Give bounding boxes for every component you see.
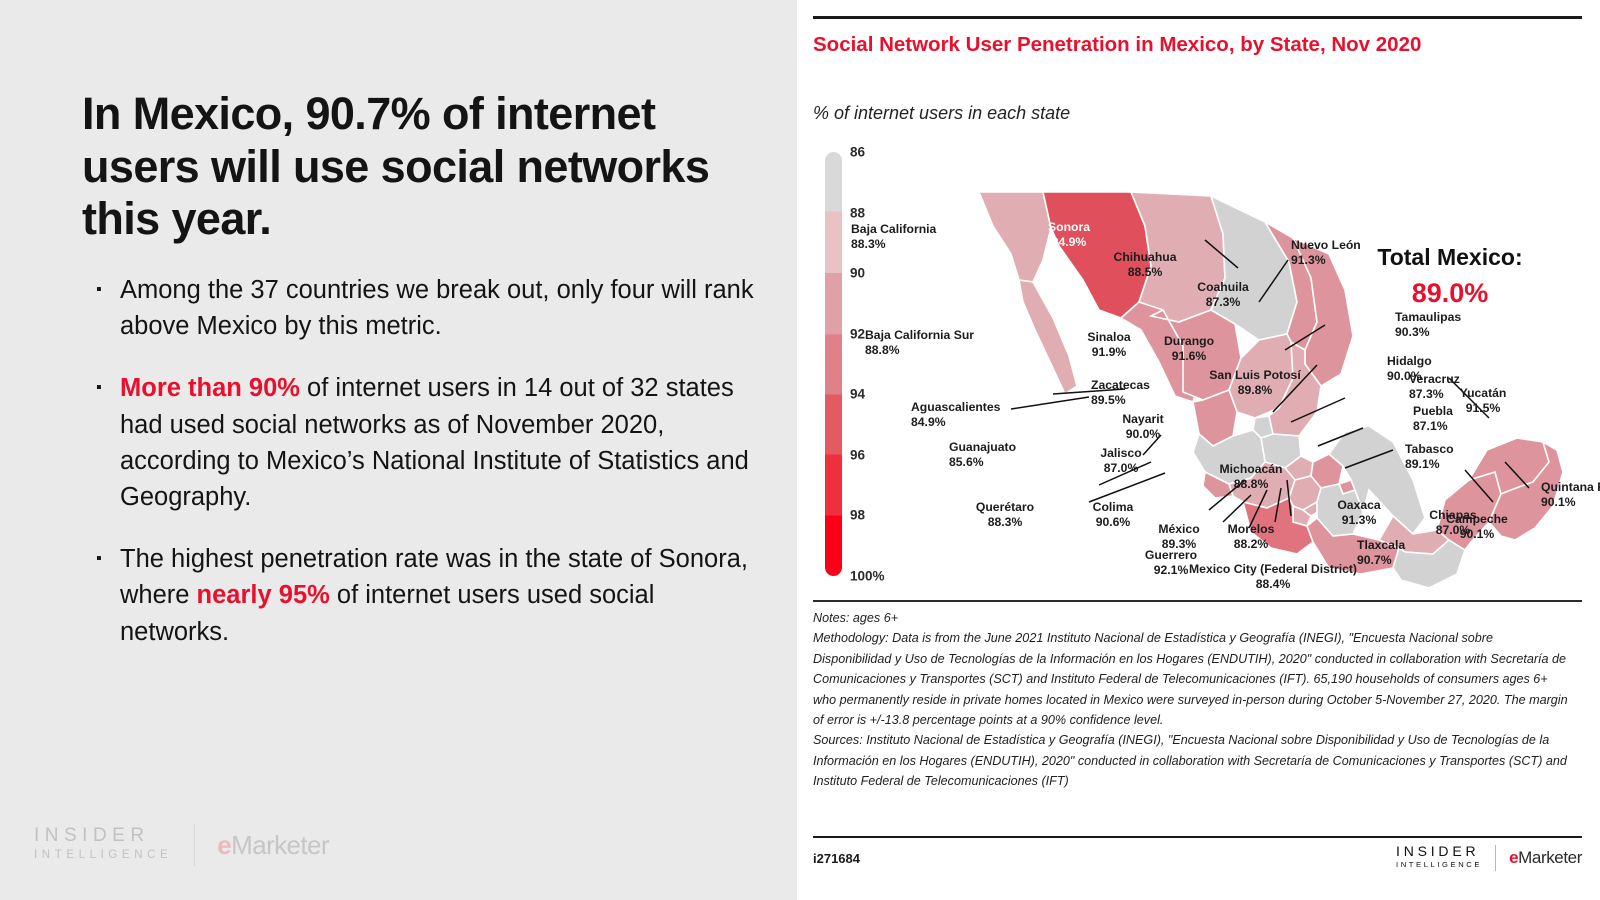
map-label-chihuahua: Chihuahua88.5% [1114, 250, 1177, 280]
legend-tick-90: 90 [850, 266, 865, 281]
map-label-name: Veracruz [1409, 372, 1460, 386]
map-label-value: 87.3% [1409, 387, 1460, 402]
map-label-tlaxcala: Tlaxcala90.7% [1357, 538, 1405, 568]
map-label-tamaulipas: Tamaulipas90.3% [1395, 310, 1461, 340]
map-label-jalisco: Jalisco87.0% [1100, 446, 1141, 476]
map-label-value: 90.1% [1541, 495, 1600, 510]
map-label-coahuila: Coahuila87.3% [1197, 280, 1248, 310]
map-label-name: Durango [1164, 334, 1214, 348]
map-label-colima: Colima90.6% [1093, 500, 1134, 530]
map-label-value: 90.1% [1446, 527, 1508, 542]
chart-title: Social Network User Penetration in Mexic… [813, 32, 1513, 58]
map-label-value: 91.5% [1460, 401, 1507, 416]
map-label-value: 88.5% [1114, 265, 1177, 280]
map-label-nuevo-leon: Nuevo León91.3% [1291, 238, 1361, 268]
chart-id: i271684 [813, 851, 860, 866]
legend-tick-88: 88 [850, 205, 865, 220]
map-label-morelos: Morelos88.2% [1228, 522, 1275, 552]
bottom-rule [813, 836, 1582, 839]
map-region-baja-california-sur[interactable] [1019, 280, 1077, 394]
map-label-sonora: Sonora94.9% [1048, 220, 1090, 250]
chart-panel: Social Network User Penetration in Mexic… [797, 0, 1600, 900]
bullet-text: More than 90% of internet users in 14 ou… [120, 370, 756, 515]
logo-divider-right [1495, 845, 1496, 871]
map-label-name: Sonora [1048, 220, 1090, 234]
emarketer-text-right: Marketer [1518, 848, 1582, 867]
map-label-name: Guerrero [1145, 548, 1197, 562]
map-label-value: 91.3% [1337, 513, 1380, 528]
map-label-name: Coahuila [1197, 280, 1248, 294]
map-label-guanajuato: Guanajuato85.6% [949, 440, 1016, 470]
map-label-value: 90.0% [1122, 427, 1163, 442]
map-label-name: Campeche [1446, 512, 1508, 526]
map-label-value: 91.6% [1164, 349, 1214, 364]
map-label-name: Zacatecas [1091, 378, 1150, 392]
map-label-michoacan: Michoacán88.8% [1220, 462, 1283, 492]
map-label-value: 94.9% [1048, 235, 1090, 250]
map-label-name: Querétaro [976, 500, 1034, 514]
notes-paragraph: Methodology: Data is from the June 2021 … [813, 628, 1573, 730]
map-label-value: 85.6% [949, 455, 1016, 470]
map-label-name: Sinaloa [1087, 330, 1130, 344]
page-headline: In Mexico, 90.7% of internet users will … [82, 88, 732, 246]
map-label-name: Tlaxcala [1357, 538, 1405, 552]
map-label-value: 87.0% [1100, 461, 1141, 476]
map-label-name: México [1158, 522, 1199, 536]
map-label-name: Puebla [1413, 404, 1453, 418]
legend-tick-98: 98 [850, 508, 865, 523]
map-label-value: 88.8% [865, 343, 974, 358]
left-brand-logo: INSIDER INTELLIGENCE eMarketer [34, 824, 329, 866]
map-label-value: 92.1% [1145, 563, 1197, 578]
bullet-item: ▪More than 90% of internet users in 14 o… [96, 370, 756, 515]
map-label-name: Baja California Sur [865, 328, 974, 342]
map-label-name: Guanajuato [949, 440, 1016, 454]
map-label-yucatan: Yucatán91.5% [1460, 386, 1507, 416]
map-label-name: Morelos [1228, 522, 1275, 536]
map-label-value: 89.5% [1091, 393, 1150, 408]
top-rule [813, 16, 1582, 19]
map-label-value: 89.8% [1209, 383, 1300, 398]
map-label-name: San Luis Potosí [1209, 368, 1300, 382]
map-label-durango: Durango91.6% [1164, 334, 1214, 364]
bullet-text: Among the 37 countries we break out, onl… [120, 272, 756, 344]
bullet-item: ▪The highest penetration rate was in the… [96, 541, 756, 650]
map-label-value: 89.1% [1405, 457, 1454, 472]
map-label-tabasco: Tabasco89.1% [1405, 442, 1454, 472]
insider-wordmark-right: INSIDER [1396, 844, 1482, 859]
map-label-value: 88.8% [1220, 477, 1283, 492]
left-summary-panel: In Mexico, 90.7% of internet users will … [0, 0, 797, 900]
legend-tick-86: 86 [850, 145, 865, 160]
map-label-san-luis-potosi: San Luis Potosí89.8% [1209, 368, 1300, 398]
insider-wordmark: INSIDER [34, 826, 172, 846]
map-label-name: Hidalgo [1387, 354, 1432, 368]
map-label-value: 90.6% [1093, 515, 1134, 530]
map-label-name: Mexico City (Federal District) [1189, 562, 1357, 576]
map-label-value: 90.7% [1357, 553, 1405, 568]
map-label-puebla: Puebla87.1% [1413, 404, 1453, 434]
notes-paragraph: Notes: ages 6+ [813, 608, 1573, 628]
notes-paragraph: Sources: Instituto Nacional de Estadísti… [813, 730, 1573, 791]
map-label-baja-california-sur: Baja California Sur88.8% [865, 328, 974, 358]
map-label-baja-california: Baja California88.3% [851, 222, 936, 252]
legend-tick-94: 94 [850, 387, 865, 402]
bullet-marker-icon: ▪ [96, 370, 120, 515]
bullet-marker-icon: ▪ [96, 541, 120, 650]
map-label-zacatecas: Zacatecas89.5% [1091, 378, 1150, 408]
map-label-veracruz: Veracruz87.3% [1409, 372, 1460, 402]
map-label-name: Baja California [851, 222, 936, 236]
map-region-baja-california[interactable] [979, 192, 1051, 282]
map-label-value: 88.3% [851, 237, 936, 252]
emarketer-e-glyph-right: e [1509, 848, 1518, 867]
map-label-value: 84.9% [911, 415, 1000, 430]
map-label-name: Nayarit [1122, 412, 1163, 426]
map-label-value: 91.3% [1291, 253, 1361, 268]
bullet-marker-icon: ▪ [96, 272, 120, 344]
map-label-name: Jalisco [1100, 446, 1141, 460]
map-label-name: Tabasco [1405, 442, 1454, 456]
intelligence-wordmark-right: INTELLIGENCE [1396, 859, 1482, 872]
intelligence-wordmark: INTELLIGENCE [34, 846, 172, 864]
bullet-text: The highest penetration rate was in the … [120, 541, 756, 650]
bullet-item: ▪Among the 37 countries we break out, on… [96, 272, 756, 344]
mexico-choropleth-map: Baja California88.3%Baja California Sur8… [893, 150, 1593, 590]
map-label-value: 88.3% [976, 515, 1034, 530]
map-label-guerrero: Guerrero92.1% [1145, 548, 1197, 578]
map-label-mexico-city: Mexico City (Federal District)88.4% [1189, 562, 1357, 592]
map-label-aguascalientes: Aguascalientes84.9% [911, 400, 1000, 430]
map-label-value: 88.2% [1228, 537, 1275, 552]
map-label-name: Aguascalientes [911, 400, 1000, 414]
map-label-value: 87.3% [1197, 295, 1248, 310]
chart-subtitle: % of internet users in each state [813, 103, 1070, 124]
bullet-span: Among the 37 countries we break out, onl… [120, 276, 754, 340]
right-brand-logo: INSIDER INTELLIGENCE eMarketer [1396, 844, 1582, 872]
bullet-highlight: nearly 95% [197, 581, 330, 609]
map-label-campeche: Campeche90.1% [1446, 512, 1508, 542]
bullet-list: ▪Among the 37 countries we break out, on… [96, 272, 756, 676]
emarketer-wordmark-right: eMarketer [1509, 848, 1582, 868]
map-label-name: Colima [1093, 500, 1134, 514]
legend-tick-92: 92 [850, 326, 865, 341]
map-label-nayarit: Nayarit90.0% [1122, 412, 1163, 442]
emarketer-wordmark: eMarketer [217, 830, 329, 861]
legend-tick-96: 96 [850, 447, 865, 462]
map-label-name: Tamaulipas [1395, 310, 1461, 324]
logo-divider [194, 824, 195, 866]
map-label-value: 90.3% [1395, 325, 1461, 340]
map-label-name: Oaxaca [1337, 498, 1380, 512]
map-label-value: 87.1% [1413, 419, 1453, 434]
map-label-oaxaca: Oaxaca91.3% [1337, 498, 1380, 528]
emarketer-text: Marketer [231, 830, 329, 860]
bullet-highlight: More than 90% [120, 374, 300, 402]
emarketer-e-glyph: e [217, 830, 231, 860]
map-label-sinaloa: Sinaloa91.9% [1087, 330, 1130, 360]
map-label-quintana-roo: Quintana Roo90.1% [1541, 480, 1600, 510]
map-label-value: 91.9% [1087, 345, 1130, 360]
notes-rule [813, 600, 1582, 602]
map-label-name: Yucatán [1460, 386, 1507, 400]
map-label-name: Nuevo León [1291, 238, 1361, 252]
map-label-queretaro: Querétaro88.3% [976, 500, 1034, 530]
map-label-name: Quintana Roo [1541, 480, 1600, 494]
legend-gradient-bar [825, 152, 842, 576]
notes-block: Notes: ages 6+Methodology: Data is from … [813, 608, 1573, 792]
map-label-name: Chihuahua [1114, 250, 1177, 264]
map-label-name: Michoacán [1220, 462, 1283, 476]
map-label-value: 88.4% [1189, 577, 1357, 592]
legend-tick-100: 100% [850, 569, 885, 584]
